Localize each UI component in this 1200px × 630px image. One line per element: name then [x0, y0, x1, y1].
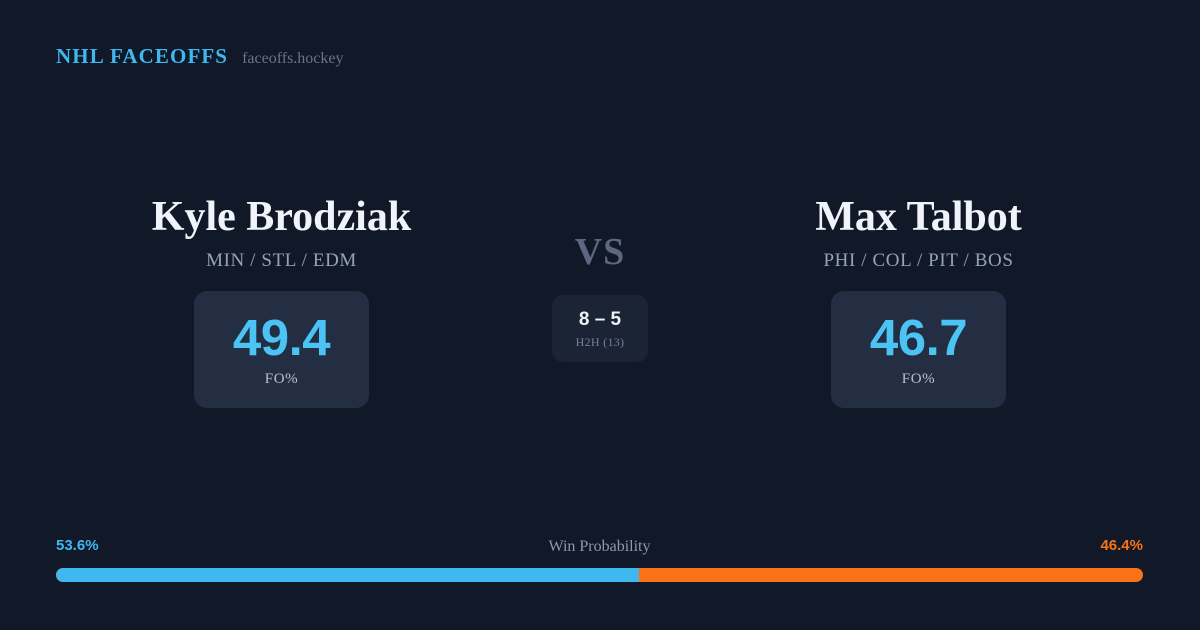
- faceoff-pct-label-right: FO%: [902, 372, 935, 387]
- faceoff-pct-label-left: FO%: [265, 372, 298, 387]
- head-to-head-label: H2H (13): [576, 336, 625, 348]
- player-card-right[interactable]: Max Talbot PHI / COL / PIT / BOS 46.7 FO…: [686, 195, 1151, 408]
- player-teams-left: MIN / STL / EDM: [206, 250, 357, 272]
- win-probability-right-pct: 46.4%: [1100, 537, 1143, 555]
- head-to-head-card: 8 – 5 H2H (13): [552, 295, 648, 362]
- faceoff-stat-card-left: 49.4 FO%: [194, 291, 369, 408]
- player-card-left[interactable]: Kyle Brodziak MIN / STL / EDM 49.4 FO%: [49, 195, 514, 408]
- faceoff-pct-value-left: 49.4: [233, 312, 330, 363]
- matchup-row: Kyle Brodziak MIN / STL / EDM 49.4 FO% V…: [0, 195, 1200, 408]
- win-probability-bar: [56, 568, 1143, 582]
- win-probability-bar-left-fill: [56, 568, 639, 582]
- win-probability-title: Win Probability: [56, 537, 1143, 556]
- player-teams-right: PHI / COL / PIT / BOS: [824, 250, 1014, 272]
- win-probability-labels: 53.6% Win Probability 46.4%: [56, 537, 1143, 556]
- head-to-head-score: 8 – 5: [579, 310, 621, 329]
- win-probability-section: 53.6% Win Probability 46.4%: [56, 537, 1143, 582]
- faceoff-pct-value-right: 46.7: [870, 312, 967, 363]
- brand-domain: faceoffs.hockey: [242, 51, 343, 67]
- player-name-right: Max Talbot: [815, 195, 1022, 240]
- versus-column: VS 8 – 5 H2H (13): [514, 195, 686, 362]
- player-name-left: Kyle Brodziak: [152, 195, 411, 240]
- brand-title: NHL FACEOFFS: [56, 46, 228, 67]
- versus-label: VS: [575, 233, 626, 271]
- brand-header: NHL FACEOFFS faceoffs.hockey: [56, 46, 344, 67]
- faceoff-stat-card-right: 46.7 FO%: [831, 291, 1006, 408]
